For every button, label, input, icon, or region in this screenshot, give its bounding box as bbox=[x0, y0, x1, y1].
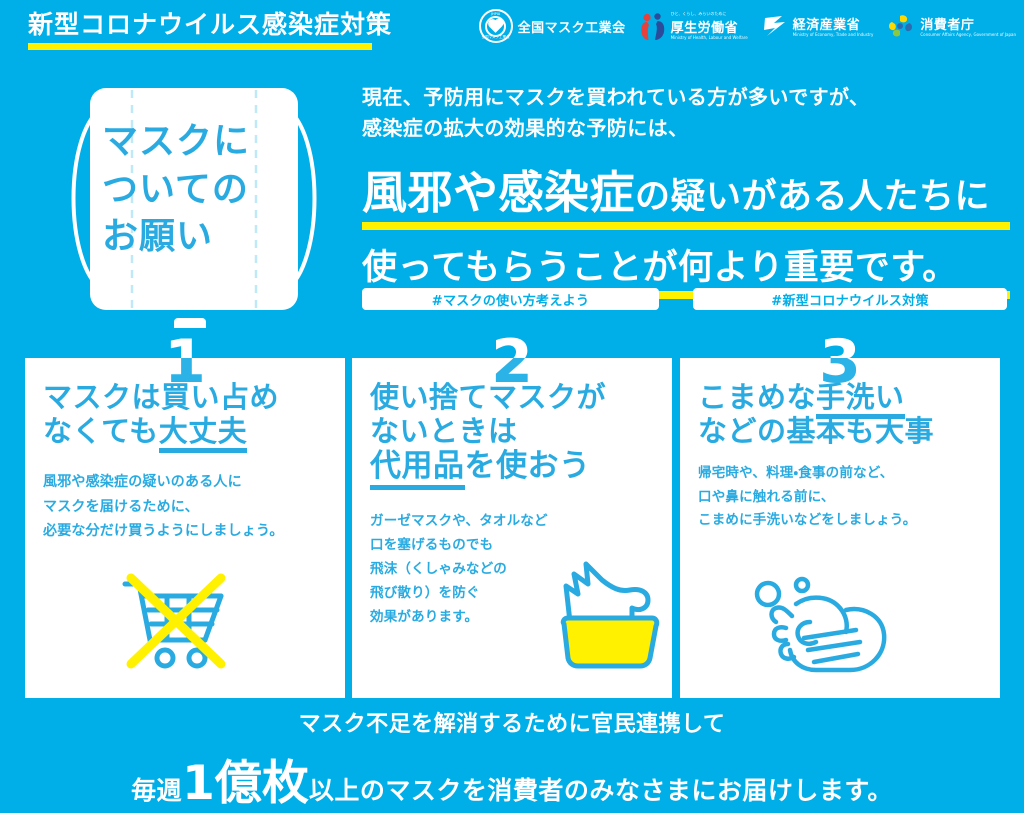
advice-card-1: マスクは買い占め なくても大丈夫 風邪や感染症の疑いのある人に マスクを届けるた… bbox=[25, 358, 345, 698]
card3-title-line2: などの基本も大事 bbox=[698, 414, 982, 448]
page-footer: マスク不足を解消するために官民連携して 毎週1億枚以上のマスクを消費者のみなさま… bbox=[0, 706, 1024, 813]
card-number-badge-1: 1 1 bbox=[155, 332, 215, 394]
mask-panel-text: マスクに ついての お願い bbox=[102, 118, 292, 261]
caa-pinwheel-icon bbox=[887, 13, 915, 39]
logo-meti-english: Ministry of Economy, Trade and Industry bbox=[793, 33, 874, 38]
card-number-3-bottom: 3 bbox=[810, 358, 870, 404]
logo-jhpia-label: 全国マスク工業会 bbox=[518, 17, 626, 36]
advice-card-2-inner: 使い捨てマスクが ないときは 代用品を使おう ガーゼマスクや、タオルなど 口を塞… bbox=[352, 358, 672, 698]
crossed-out-shopping-cart-icon bbox=[117, 570, 235, 676]
shopping-cart-icon bbox=[117, 570, 235, 672]
card2-title-underlined: 代用品 bbox=[370, 448, 465, 485]
washing-hands-icon bbox=[752, 576, 918, 684]
card-number-3-top: 3 bbox=[810, 332, 870, 358]
hero-rest-text: の疑いがある人たちに bbox=[635, 177, 990, 217]
card-number-badge-3: 3 3 bbox=[810, 332, 870, 394]
card3-body-line2: 口や鼻に触れる前に、 bbox=[698, 486, 982, 509]
heart-icon bbox=[489, 20, 502, 33]
footer-number: 1億枚 bbox=[182, 756, 309, 811]
advice-card-1-body: 風邪や感染症の疑いのある人に マスクを届けるために、 必要な分だけ買うようにしま… bbox=[43, 470, 327, 542]
logo-mhlw-english: Ministry of Health, Labour and Welfare bbox=[671, 36, 748, 41]
infographic-page: 新型コロナウイルス感染症対策 JHPIA 全国マスク工業会 全国マスク工業会 bbox=[0, 0, 1024, 813]
card-number-2-top: 2 bbox=[482, 332, 542, 358]
card-number-1-glyph-top: 1 bbox=[155, 332, 215, 358]
card3-title-prefix: こまめな bbox=[698, 380, 816, 414]
card2-title-suffix: を使おう bbox=[465, 448, 591, 484]
meti-mark-icon bbox=[762, 13, 788, 39]
hero-line2-text: 使ってもらうことが何より重要です。 bbox=[362, 248, 958, 288]
page-title: 新型コロナウイルス感染症対策 bbox=[28, 12, 392, 37]
title-underline-bar bbox=[28, 43, 372, 50]
card1-title-line2: なくても大丈夫 bbox=[43, 414, 327, 448]
jhpia-seal-top-text: JHPIA bbox=[481, 12, 511, 16]
card2-body-line1: ガーゼマスクや、タオルなど bbox=[370, 509, 654, 533]
mhlw-mark-icon bbox=[640, 11, 666, 41]
advice-card-3-body: 帰宅時や、料理・食事の前など、 口や鼻に触れる前に、 こまめに手洗いなどをしまし… bbox=[698, 462, 982, 532]
card1-title-underlined: 大丈夫 bbox=[159, 414, 248, 448]
card3-body-line3: こまめに手洗いなどをしましょう。 bbox=[698, 509, 982, 532]
card2-body-line2: 口を塞げるものでも bbox=[370, 533, 654, 557]
card-number-2-glyph-bottom: 2 bbox=[482, 358, 542, 392]
jhpia-seal-bottom-text: 全国マスク工業会 bbox=[481, 35, 511, 40]
hashtag-pill-2[interactable]: #新型コロナウイルス対策 bbox=[693, 288, 1007, 310]
card-number-1-glyph-bottom: 1 bbox=[155, 358, 215, 392]
hero-lead-line2: 感染症の拡大の効果的な予防には、 bbox=[362, 113, 1010, 144]
card-number-2-bottom: 2 bbox=[482, 358, 542, 404]
card2-title-line3: 代用品を使おう bbox=[370, 448, 654, 485]
mask-panel-line1: マスクに bbox=[102, 118, 292, 166]
hand-washing-icon bbox=[752, 576, 918, 688]
hero-headline-row2: 使ってもらうことが何より重要です。 bbox=[362, 239, 1010, 290]
logo-mhlw-tagline: ひと、くらし、みらいのために bbox=[671, 12, 748, 17]
agency-logo-group: JHPIA 全国マスク工業会 全国マスク工業会 ひと、くらし、みらいのために 厚… bbox=[479, 9, 1016, 43]
advice-card-3-inner: こまめな手洗い などの基本も大事 帰宅時や、料理・食事の前など、 口や鼻に触れる… bbox=[680, 358, 1000, 698]
hero-underline-1 bbox=[362, 222, 1010, 230]
footer-line1: マスク不足を解消するために官民連携して bbox=[0, 706, 1024, 738]
logo-caa: 消費者庁 Consumer Affairs Agency, Government… bbox=[887, 13, 1016, 39]
logo-caa-english: Consumer Affairs Agency, Government of J… bbox=[920, 33, 1016, 38]
footer-line2: 毎週1億枚以上のマスクを消費者のみなさまにお届けします。 bbox=[0, 744, 1024, 813]
card1-body-line3: 必要な分だけ買うようにしましょう。 bbox=[43, 519, 327, 543]
folded-towel-icon bbox=[548, 558, 666, 674]
advice-card-3: こまめな手洗い などの基本も大事 帰宅時や、料理・食事の前など、 口や鼻に触れる… bbox=[680, 358, 1000, 698]
hashtag-pill-1[interactable]: #マスクの使い方考えよう bbox=[362, 288, 659, 310]
towel-icon bbox=[548, 558, 666, 670]
advice-card-1-inner: マスクは買い占め なくても大丈夫 風邪や感染症の疑いのある人に マスクを届けるた… bbox=[25, 358, 345, 698]
hashtag-group: #マスクの使い方考えよう #新型コロナウイルス対策 bbox=[362, 288, 1010, 310]
logo-jhpia: JHPIA 全国マスク工業会 全国マスク工業会 bbox=[479, 9, 626, 43]
card2-title-line2: ないときは bbox=[370, 414, 654, 448]
logo-mhlw-label: 厚生労働省 bbox=[671, 17, 748, 36]
hero-headline: 風邪や感染症の疑いがある人たちに 使ってもらうことが何より重要です。 bbox=[362, 156, 1010, 299]
page-header: 新型コロナウイルス感染症対策 JHPIA 全国マスク工業会 全国マスク工業会 bbox=[0, 0, 1024, 62]
logo-meti: 経済産業省 Ministry of Economy, Trade and Ind… bbox=[762, 13, 874, 39]
logo-meti-label: 経済産業省 bbox=[793, 14, 874, 33]
card-number-1-bottom: 1 bbox=[155, 358, 215, 404]
hero-message: 現在、予防用にマスクを買われている方が多いですが、 感染症の拡大の効果的な予防に… bbox=[362, 82, 1010, 299]
card-number-3-glyph-top: 3 bbox=[810, 332, 870, 358]
logo-caa-label: 消費者庁 bbox=[920, 14, 1016, 33]
footer-suffix: 以上のマスクを消費者のみなさまにお届けします。 bbox=[309, 776, 893, 805]
card1-title-prefix: なくても bbox=[43, 414, 159, 448]
card1-body-line2: マスクを届けるために、 bbox=[43, 495, 327, 519]
card-number-1-top: 1 bbox=[155, 332, 215, 358]
card-number-badge-2: 2 2 bbox=[482, 332, 542, 394]
jhpia-seal-icon: JHPIA 全国マスク工業会 bbox=[479, 9, 513, 43]
mask-panel-line2: ついての bbox=[102, 166, 292, 214]
footer-prefix: 毎週 bbox=[131, 776, 182, 805]
logo-mhlw: ひと、くらし、みらいのために 厚生労働省 Ministry of Health,… bbox=[640, 11, 748, 41]
card-number-3-glyph-bottom: 3 bbox=[810, 358, 870, 392]
hero-lead-line1: 現在、予防用にマスクを買われている方が多いですが、 bbox=[362, 82, 1010, 113]
card3-body-line1: 帰宅時や、料理・食事の前など、 bbox=[698, 462, 982, 485]
header-title-block: 新型コロナウイルス感染症対策 bbox=[28, 12, 392, 50]
advice-card-2: 使い捨てマスクが ないときは 代用品を使おう ガーゼマスクや、タオルなど 口を塞… bbox=[352, 358, 672, 698]
hero-emphasis-text: 風邪や感染症 bbox=[362, 166, 635, 219]
hero-headline-row1: 風邪や感染症の疑いがある人たちに bbox=[362, 156, 1010, 221]
card-number-2-glyph-top: 2 bbox=[482, 332, 542, 358]
mask-panel-line3: お願い bbox=[102, 213, 292, 261]
card1-body-line1: 風邪や感染症の疑いのある人に bbox=[43, 470, 327, 494]
